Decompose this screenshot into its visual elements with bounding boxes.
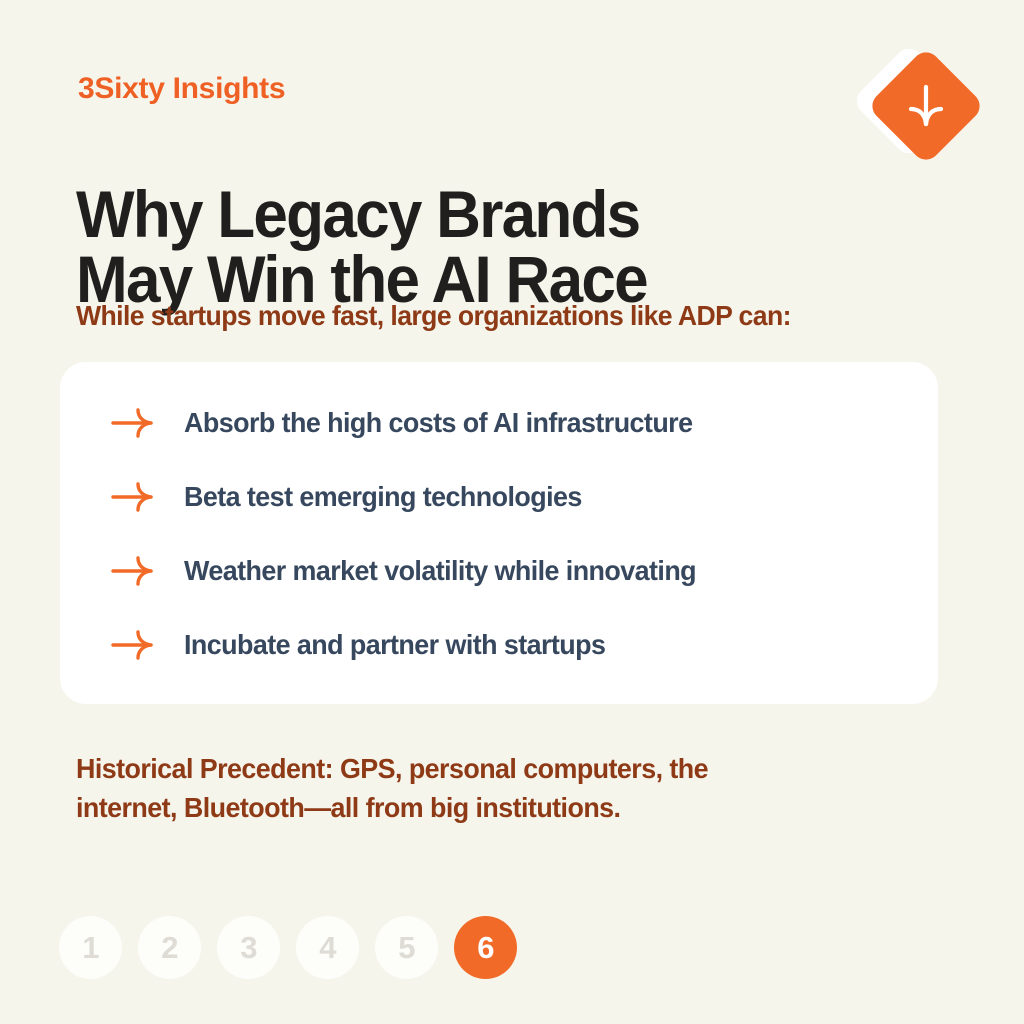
arrow-right-icon (108, 554, 160, 588)
pagination-dot-2[interactable]: 2 (138, 916, 201, 979)
page-title: Why Legacy Brands May Win the AI Race (76, 182, 884, 311)
footnote: Historical Precedent: GPS, personal comp… (76, 750, 854, 827)
list-item: Absorb the high costs of AI infrastructu… (108, 386, 914, 460)
footnote-line-1: Historical Precedent: GPS, personal comp… (76, 753, 708, 784)
pagination-dot-3[interactable]: 3 (217, 916, 280, 979)
list-item: Incubate and partner with startups (108, 608, 914, 682)
subheading: While startups move fast, large organiza… (76, 300, 931, 332)
list-item-label: Weather market volatility while innovati… (184, 555, 696, 587)
pagination[interactable]: 1 2 3 4 5 6 (59, 916, 517, 979)
headline-line-1: Why Legacy Brands (76, 177, 639, 251)
list-item: Weather market volatility while innovati… (108, 534, 914, 608)
pagination-dot-5[interactable]: 5 (375, 916, 438, 979)
pagination-dot-4[interactable]: 4 (296, 916, 359, 979)
brand-name: 3Sixty Insights (78, 72, 285, 106)
down-arrow-diamond-logo-icon (884, 64, 968, 148)
footnote-line-2: internet, Bluetooth—all from big institu… (76, 792, 620, 823)
arrow-right-icon (108, 406, 160, 440)
brand-logo (866, 54, 982, 170)
arrow-right-icon (108, 480, 160, 514)
list-item-label: Absorb the high costs of AI infrastructu… (184, 407, 692, 439)
arrow-right-icon (108, 628, 160, 662)
bullet-list: Absorb the high costs of AI infrastructu… (108, 386, 914, 682)
list-item-label: Beta test emerging technologies (184, 481, 582, 513)
slide-canvas: 3Sixty Insights Why Legacy Brands May Wi… (0, 0, 1024, 1024)
bullet-card: Absorb the high costs of AI infrastructu… (60, 362, 938, 704)
list-item: Beta test emerging technologies (108, 460, 914, 534)
pagination-dot-1[interactable]: 1 (59, 916, 122, 979)
list-item-label: Incubate and partner with startups (184, 629, 605, 661)
pagination-dot-6[interactable]: 6 (454, 916, 517, 979)
